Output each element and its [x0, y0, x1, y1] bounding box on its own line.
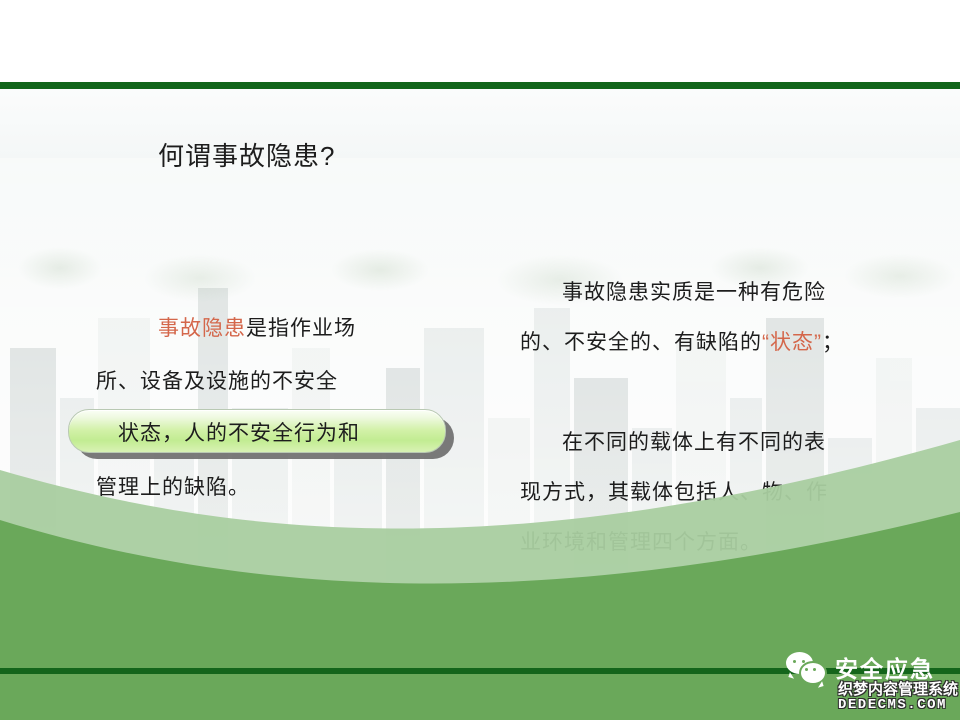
right2-line-1: 在不同的载体上有不同的表 — [520, 418, 890, 468]
right2-line-2: 现方式，其载体包括人、物、作 — [520, 468, 890, 518]
left-line-3: 状态，人的不安全行为和 — [0, 414, 460, 454]
wechat-dot — [793, 660, 796, 663]
left-line-4: 管理上的缺陷。 — [96, 461, 456, 514]
left-line-1: 事故隐患是指作业场 — [96, 302, 456, 355]
brand-name: 安全应急 — [835, 650, 935, 684]
wechat-dot — [802, 660, 805, 663]
watermark-cn: 织梦内容管理系统 — [838, 682, 958, 698]
top-green-rule — [0, 82, 960, 89]
accent-term-hidden-danger: 事故隐患 — [158, 317, 246, 340]
page-title: 何谓事故隐患? — [158, 138, 335, 174]
accent-term-state: “状态” — [762, 331, 822, 354]
wechat-icon — [786, 652, 826, 682]
left-line-2: 所、设备及设施的不安全 — [96, 355, 456, 408]
right1-line-1: 事故隐患实质是一种有危险 — [520, 268, 890, 318]
watermark-en: DEDECMS.COM — [838, 698, 958, 713]
left-line-1-rest: 是指作业场 — [246, 317, 356, 340]
right1-line-2-pre: 的、不安全的、有缺陷的 — [520, 331, 762, 354]
left-definition-paragraph: 事故隐患是指作业场 所、设备及设施的不安全 管理上的缺陷。 — [96, 302, 456, 514]
right1-line-2-post: ； — [822, 331, 844, 354]
right1-line-2: 的、不安全的、有缺陷的“状态”； — [520, 318, 890, 368]
right-paragraph-one: 事故隐患实质是一种有危险 的、不安全的、有缺陷的“状态”； — [520, 268, 890, 368]
brand-badge: 安全应急 — [786, 650, 935, 684]
wechat-dot — [805, 668, 808, 671]
slide-canvas: 何谓事故隐患? 事故隐患是指作业场 所、设备及设施的不安全 管理上的缺陷。 状态… — [0, 0, 960, 720]
watermark: 织梦内容管理系统 DEDECMS.COM — [838, 682, 958, 712]
right2-line-3: 业环境和管理四个方面。 — [520, 518, 890, 568]
right-paragraph-two: 在不同的载体上有不同的表 现方式，其载体包括人、物、作 业环境和管理四个方面。 — [520, 418, 890, 568]
wechat-bubble-small — [799, 661, 827, 685]
wechat-dot — [813, 668, 816, 671]
